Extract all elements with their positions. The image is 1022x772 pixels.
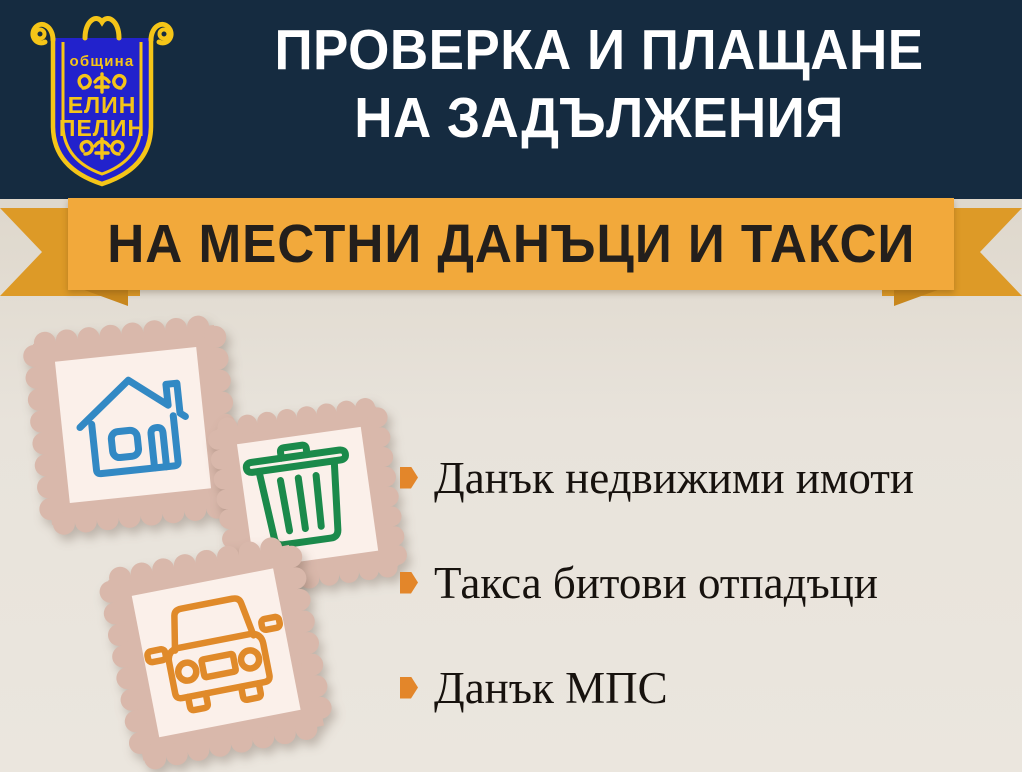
logo-text-obshtina: община [70,53,135,70]
car-stamp [98,535,333,770]
page-title-line-2: НА ЗАДЪЛЖЕНИЯ [214,84,984,152]
bullet-arrow-icon [400,467,418,489]
list-item[interactable]: Данък недвижими имоти [400,425,1010,530]
ribbon-band: НА МЕСТНИ ДАНЪЦИ И ТАКСИ [68,198,954,290]
list-item[interactable]: Данък МПС [400,635,1010,740]
list-item[interactable]: Такса битови отпадъци [400,530,1010,635]
list-item-label: Данък недвижими имоти [434,452,914,504]
page-title: ПРОВЕРКА И ПЛАЩАНЕ НА ЗАДЪЛЖЕНИЯ [185,16,1013,152]
bullet-arrow-icon [400,677,418,699]
poster-root: община ЕЛИН ПЕЛИН ПРОВЕРКА И ПЛАЩАНЕ НА … [0,0,1022,772]
municipality-logo: община ЕЛИН ПЕЛИН [25,8,180,193]
page-title-line-1: ПРОВЕРКА И ПЛАЩАНЕ [214,16,984,84]
list-item-label: Такса битови отпадъци [434,557,878,609]
coat-of-arms-icon: община ЕЛИН ПЕЛИН [25,8,180,193]
subtitle-ribbon: НА МЕСТНИ ДАНЪЦИ И ТАКСИ [0,198,1022,308]
list-item-label: Данък МПС [434,662,668,714]
tax-type-list: Данък недвижими имоти Такса битови отпад… [400,425,1010,740]
bullet-arrow-icon [400,572,418,594]
ribbon-label: НА МЕСТНИ ДАНЪЦИ И ТАКСИ [107,213,915,275]
header-bar: община ЕЛИН ПЕЛИН ПРОВЕРКА И ПЛАЩАНЕ НА … [0,0,1022,199]
logo-text-pelin: ПЕЛИН [59,115,145,141]
